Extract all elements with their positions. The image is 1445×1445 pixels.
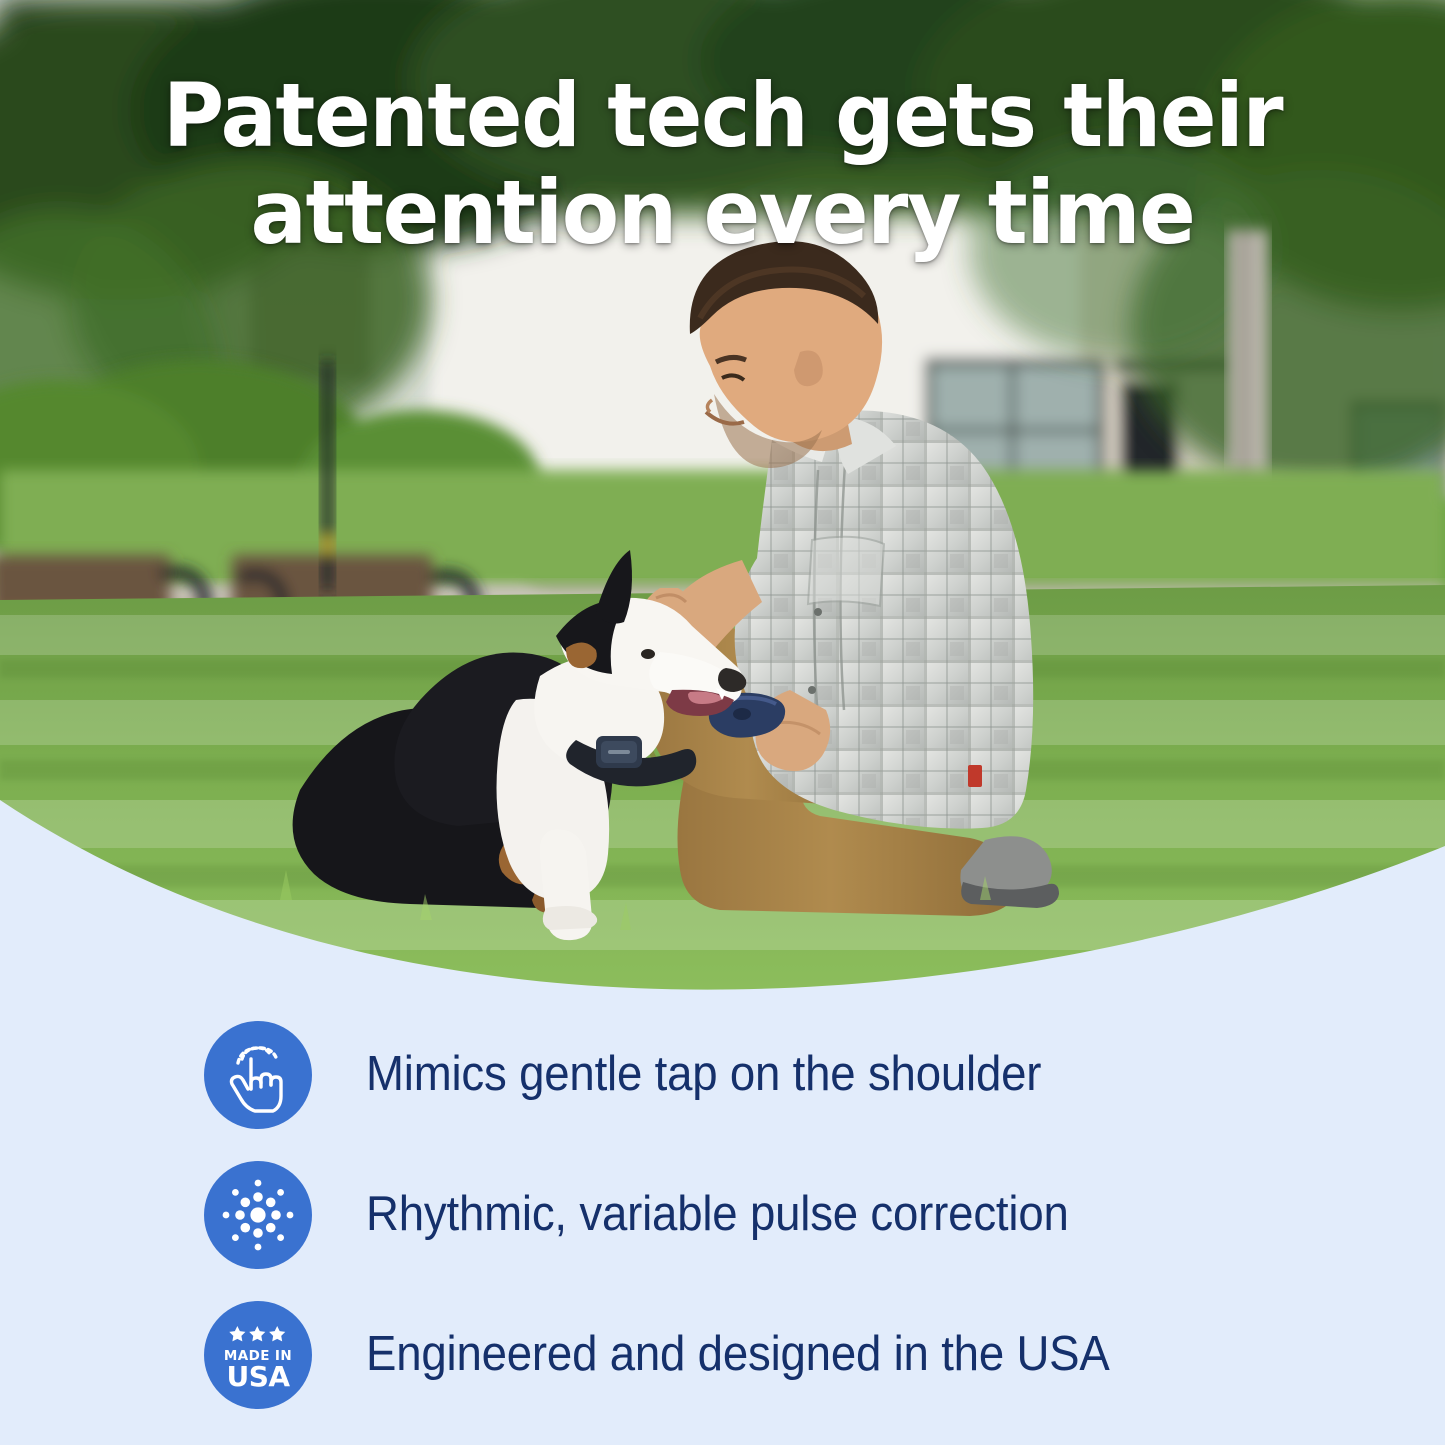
marketing-infographic: Patented tech gets their attention every… (0, 0, 1445, 1445)
feature-row-usa: MADE IN USA Engineered and designed in t… (0, 1285, 1445, 1425)
lamp-post (320, 360, 335, 590)
pulse-burst-glyph (219, 1176, 297, 1254)
pulse-burst-icon (204, 1161, 312, 1269)
tap-hand-icon (204, 1021, 312, 1129)
feature-list: Mimics gentle tap on the shoulder (0, 1005, 1445, 1425)
feature-row-tap: Mimics gentle tap on the shoulder (0, 1005, 1445, 1145)
tap-hand-glyph (220, 1037, 296, 1113)
made-in-usa-icon: MADE IN USA (204, 1301, 312, 1409)
made-in-usa-glyph: MADE IN USA (216, 1320, 300, 1390)
hero-photo (0, 0, 1445, 990)
feature-label-pulse: Rhythmic, variable pulse correction (366, 1189, 1069, 1240)
feature-label-usa: Engineered and designed in the USA (366, 1329, 1110, 1380)
feature-label-tap: Mimics gentle tap on the shoulder (366, 1049, 1041, 1100)
usa-text: USA (226, 1360, 290, 1390)
photo-illustration (0, 0, 1445, 990)
usa-stars (229, 1326, 285, 1341)
feature-row-pulse: Rhythmic, variable pulse correction (0, 1145, 1445, 1285)
